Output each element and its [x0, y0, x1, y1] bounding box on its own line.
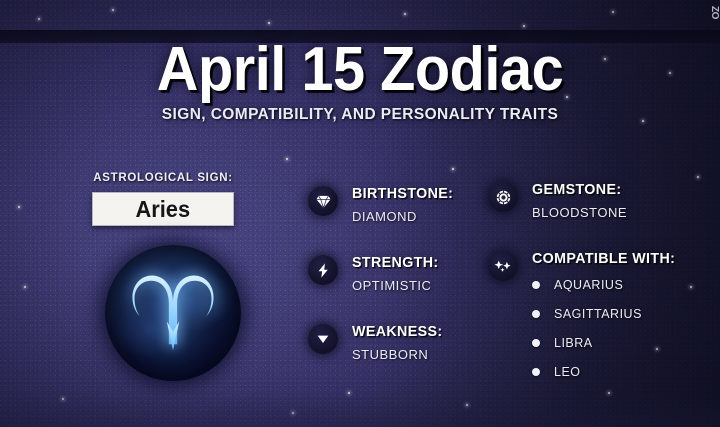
fact-value: STUBBORN [352, 347, 478, 362]
fact-title: GEMSTONE: [532, 182, 699, 198]
fact-title: COMPATIBLE WITH: [532, 251, 699, 267]
fact-title: STRENGTH: [352, 255, 472, 271]
list-item: AQUARIUS [532, 278, 708, 292]
zodiac-infographic: ZO April 15 Zodiac SIGN, COMPATIBILITY, … [0, 0, 720, 427]
lightning-icon [308, 255, 338, 285]
astrological-sign-box: Aries [92, 192, 234, 226]
compatible-signs-list: AQUARIUS SAGITTARIUS LIBRA LEO [532, 278, 708, 379]
list-item: SAGITTARIUS [532, 307, 708, 321]
page-title: April 15 Zodiac [25, 38, 695, 102]
astrological-sign-block: ASTROLOGICAL SIGN: Aries [74, 172, 252, 226]
fact-value: OPTIMISTIC [352, 278, 478, 293]
fact-title: WEAKNESS: [352, 324, 472, 340]
fact-gemstone: GEMSTONE: BLOODSTONE [488, 182, 708, 220]
fact-strength: STRENGTH: OPTIMISTIC [308, 255, 478, 293]
bullet-icon [532, 281, 540, 289]
gemstone-icon [488, 182, 518, 212]
facts-column-middle: BIRTHSTONE: DIAMOND STRENGTH: OPTIMISTIC… [308, 186, 478, 393]
header: April 15 Zodiac SIGN, COMPATIBILITY, AND… [0, 38, 720, 124]
bullet-icon [532, 339, 540, 347]
astrological-sign-label: ASTROLOGICAL SIGN: [74, 172, 252, 184]
list-item: LIBRA [532, 336, 708, 350]
triangle-down-icon [308, 324, 338, 354]
compatible-sign-label: LEO [554, 365, 581, 379]
fact-weakness: WEAKNESS: STUBBORN [308, 324, 478, 362]
list-item: LEO [532, 365, 708, 379]
fact-compatible-with: COMPATIBLE WITH: AQUARIUS SAGITTARIUS LI… [488, 251, 708, 379]
fact-value: DIAMOND [352, 209, 478, 224]
sparkle-icon [488, 251, 518, 281]
bullet-icon [532, 310, 540, 318]
aries-symbol-disc [105, 245, 241, 381]
bullet-icon [532, 368, 540, 376]
cropped-edge-text: ZO [711, 6, 720, 40]
diamond-icon [308, 186, 338, 216]
compatible-sign-label: SAGITTARIUS [554, 307, 642, 321]
fact-birthstone: BIRTHSTONE: DIAMOND [308, 186, 478, 224]
page-subtitle: SIGN, COMPATIBILITY, AND PERSONALITY TRA… [0, 106, 720, 124]
compatible-sign-label: LIBRA [554, 336, 593, 350]
facts-column-right: GEMSTONE: BLOODSTONE COMPATIBLE WITH: AQ… [488, 182, 708, 410]
aries-glyph-icon [121, 261, 225, 365]
compatible-sign-label: AQUARIUS [554, 278, 623, 292]
fact-value: BLOODSTONE [532, 205, 708, 220]
fact-title: BIRTHSTONE: [352, 186, 472, 202]
astrological-sign-name: Aries [136, 196, 191, 223]
